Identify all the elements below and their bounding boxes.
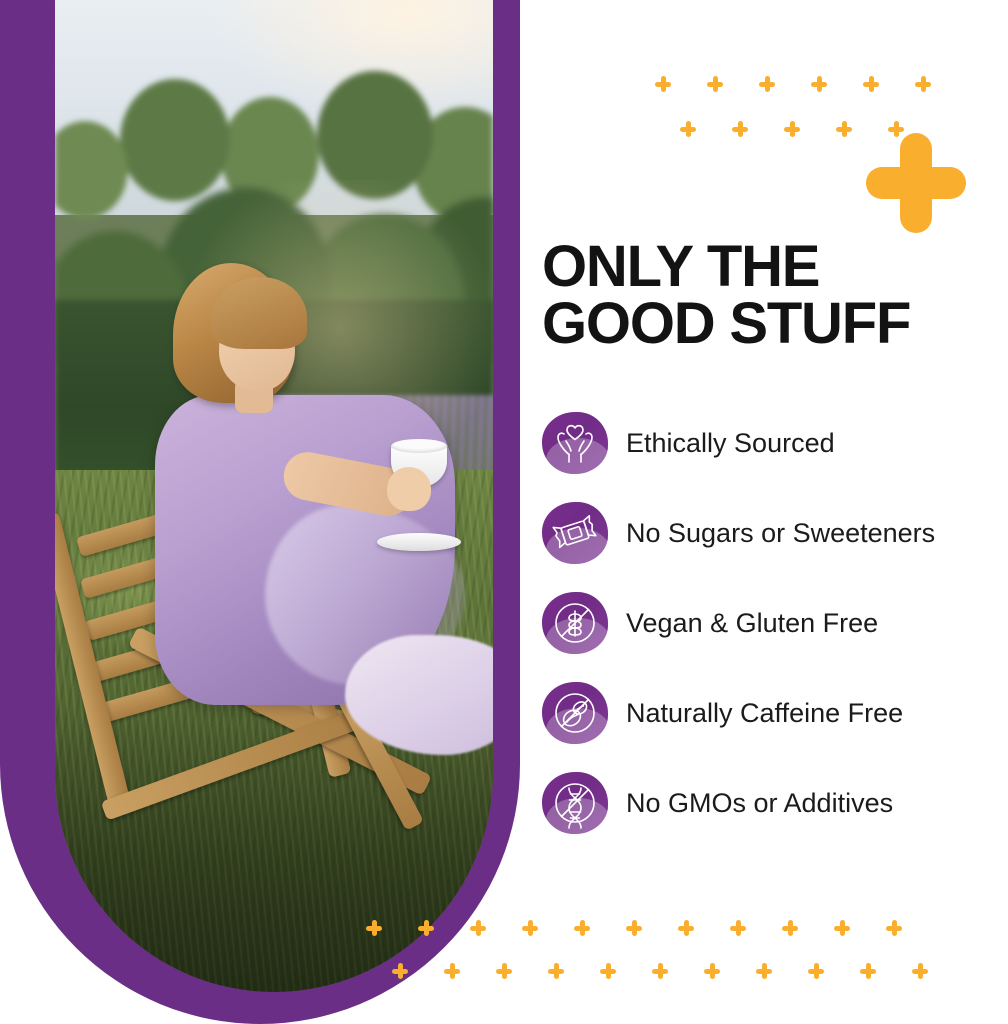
- benefit-row: Ethically Sourced: [542, 398, 1008, 488]
- plus-dot-icon: [444, 963, 460, 979]
- headline-line-1: ONLY THE: [542, 234, 819, 299]
- plus-dot-icon: [574, 920, 590, 936]
- plus-dot-icon: [548, 963, 564, 979]
- plus-dot-icon: [652, 963, 668, 979]
- teacup-rim: [391, 439, 447, 453]
- plus-dot-icon: [912, 963, 928, 979]
- plus-dots-bottom-row-1: [366, 920, 902, 936]
- hero-photo: [55, 0, 493, 992]
- plus-dot-icon: [418, 920, 434, 936]
- benefit-label: Ethically Sourced: [626, 428, 835, 459]
- plus-dot-icon: [655, 76, 671, 92]
- plus-dot-icon: [808, 963, 824, 979]
- no-dna-icon: [542, 772, 608, 834]
- plus-dot-icon: [756, 963, 772, 979]
- benefit-row: Naturally Caffeine Free: [542, 668, 1008, 758]
- plus-dot-icon: [366, 920, 382, 936]
- plus-dot-icon: [680, 121, 696, 137]
- plus-dot-icon: [836, 121, 852, 137]
- plus-dot-icon: [782, 920, 798, 936]
- plus-dot-icon: [784, 121, 800, 137]
- plus-dot-icon: [863, 76, 879, 92]
- benefits-list: Ethically Sourced No Sugars or Sweetener…: [542, 398, 1008, 848]
- plus-dot-icon: [730, 920, 746, 936]
- photo-scene: [55, 0, 493, 992]
- plus-dots-top-row-1: [655, 76, 931, 92]
- plus-icon: [866, 133, 966, 233]
- wrapped-candy-icon: [542, 502, 608, 564]
- plus-dot-icon: [860, 963, 876, 979]
- benefit-label: No Sugars or Sweeteners: [626, 518, 935, 549]
- benefit-row: No Sugars or Sweeteners: [542, 488, 1008, 578]
- plus-dot-icon: [600, 963, 616, 979]
- plus-dot-icon: [626, 920, 642, 936]
- plus-dot-icon: [470, 920, 486, 936]
- plus-dot-icon: [811, 76, 827, 92]
- hand: [387, 467, 431, 511]
- hands-holding-heart-icon: [542, 412, 608, 474]
- no-wheat-icon: [542, 592, 608, 654]
- plus-dot-icon: [915, 76, 931, 92]
- no-coffee-bean-icon: [542, 682, 608, 744]
- plus-dot-icon: [522, 920, 538, 936]
- plus-dot-icon: [707, 76, 723, 92]
- plus-dot-icon: [886, 920, 902, 936]
- infographic-root: ONLY THE GOOD STUFF Ethically Sourced No…: [0, 0, 1008, 1024]
- page-title: ONLY THE GOOD STUFF: [542, 238, 1008, 353]
- plus-dot-icon: [392, 963, 408, 979]
- woman-figure: [115, 255, 493, 735]
- benefit-label: No GMOs or Additives: [626, 788, 893, 819]
- plus-dot-icon: [704, 963, 720, 979]
- benefit-label: Vegan & Gluten Free: [626, 608, 878, 639]
- saucer: [377, 533, 461, 551]
- plus-dot-icon: [732, 121, 748, 137]
- benefit-row: Vegan & Gluten Free: [542, 578, 1008, 668]
- headline-line-2: GOOD STUFF: [542, 295, 1008, 352]
- plus-dot-icon: [834, 920, 850, 936]
- plus-dot-icon: [678, 920, 694, 936]
- benefit-label: Naturally Caffeine Free: [626, 698, 903, 729]
- benefit-row: No GMOs or Additives: [542, 758, 1008, 848]
- plus-dots-bottom-row-2: [392, 963, 928, 979]
- plus-dot-icon: [759, 76, 775, 92]
- content-panel: ONLY THE GOOD STUFF Ethically Sourced No…: [520, 0, 1008, 1024]
- plus-dot-icon: [496, 963, 512, 979]
